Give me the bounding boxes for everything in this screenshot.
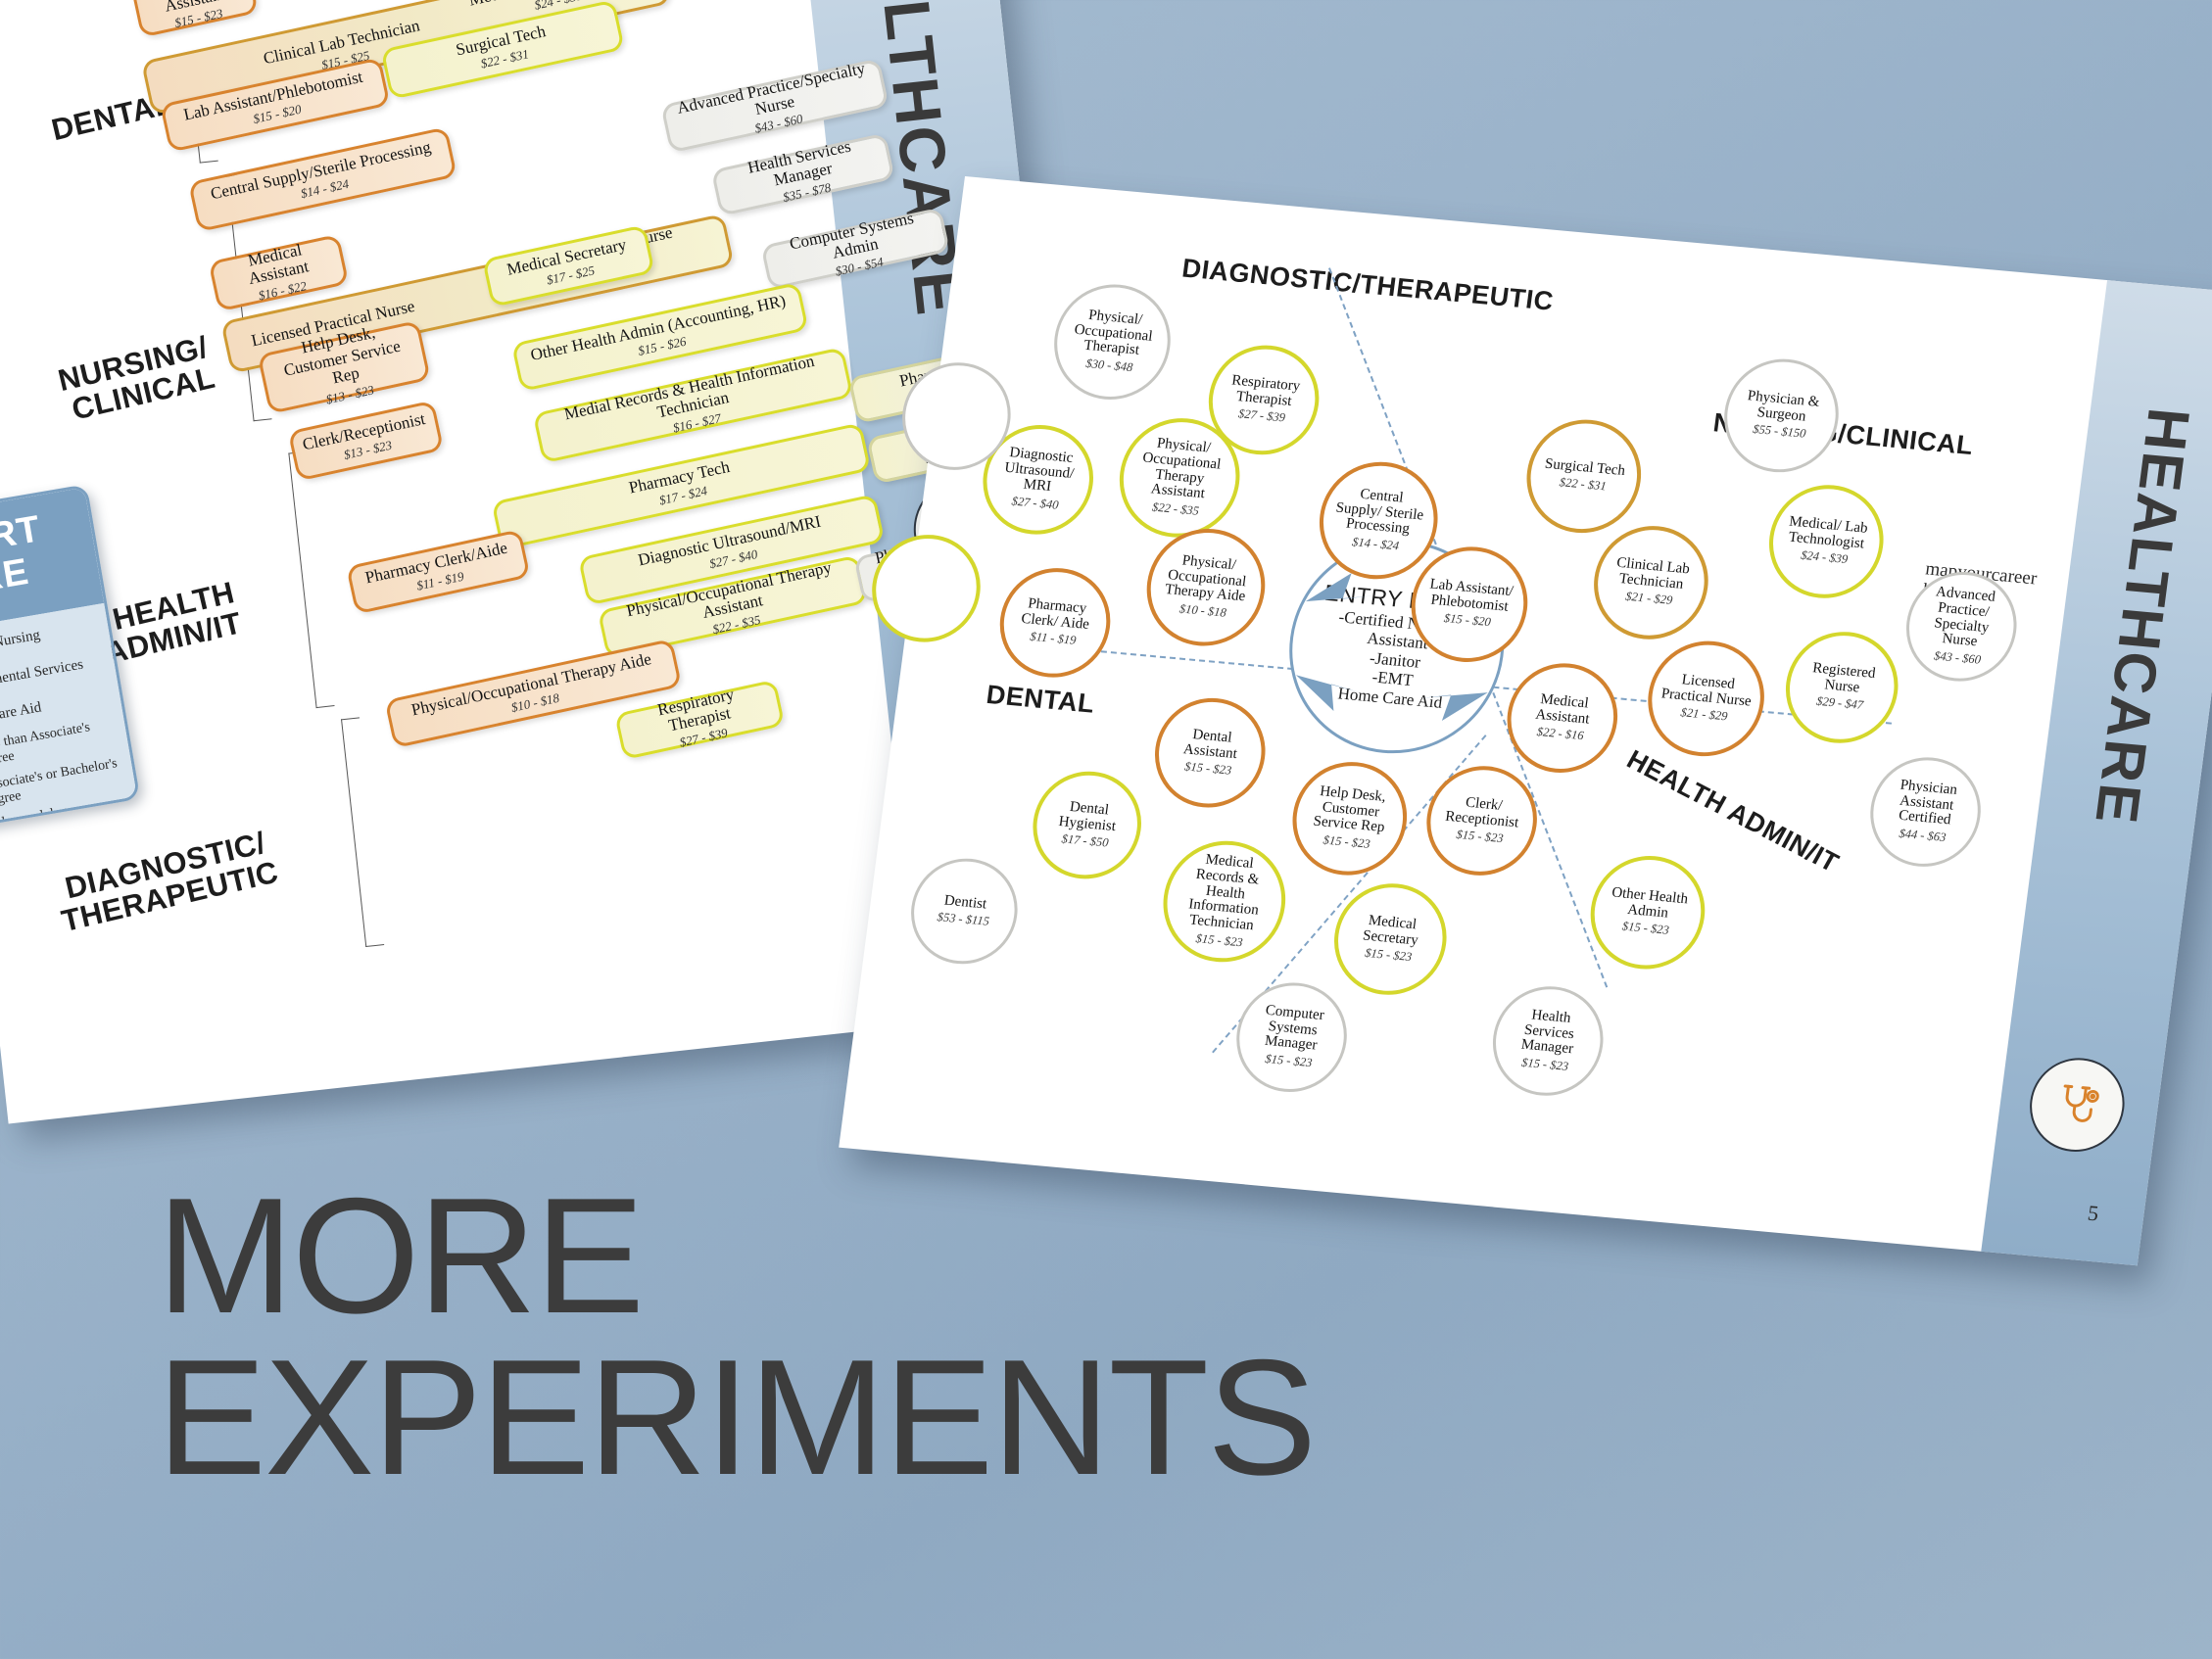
node-dental-assistant[interactable]: Dental Assistant$15 - $23 <box>1148 693 1272 812</box>
node-pt-ot-therapy-aide[interactable]: Physical/ Occupational Therapy Aide$10 -… <box>1139 524 1272 651</box>
spine-title: HEALTHCARE <box>2083 405 2203 820</box>
bar-pharmacy-clerk-aide[interactable]: Pharmacy Clerk/Aide$11 - $19 <box>346 529 530 614</box>
group-label-diagnostic: DIAGNOSTIC/THERAPEUTIC <box>52 828 276 937</box>
bar-central-supply-sterile[interactable]: Central Supply/Sterile Processing$14 - $… <box>188 126 457 232</box>
entry-level-job-list: - Certified Nursing Assistant - Environm… <box>0 617 110 734</box>
page-5-circle-map: HEALTHCARE 5 mapyourcareer healthcare DI… <box>839 176 2212 1265</box>
node-dental-hygienist[interactable]: Dental Hygienist$17 - $50 <box>1027 767 1148 883</box>
node-other-health-admin[interactable]: Other Health Admin$15 - $23 <box>1584 851 1712 974</box>
node-medical-records-hit[interactable]: Medical Records & Health Information Tec… <box>1156 835 1293 967</box>
headline-line-1: MORE <box>157 1175 1430 1337</box>
group-label-nursing: NURSING/CLINICAL <box>32 331 218 432</box>
page-title: MORE EXPERIMENTS <box>157 1175 1430 1497</box>
node-medical-lab-technologist[interactable]: Medical/ Lab Technologist$24 - $39 <box>1762 480 1891 603</box>
hub-item: Home Care Aid <box>1337 684 1444 712</box>
legend-label: Advanced degree <box>0 802 84 832</box>
page-5-spine: HEALTHCARE 5 <box>1981 280 2212 1265</box>
node-help-desk-customer-service-rep[interactable]: Help Desk, Customer Service Rep$15 - $23 <box>1286 757 1415 880</box>
bracket-diagnostic <box>341 717 384 947</box>
node-surgical-tech[interactable]: Surgical Tech$22 - $31 <box>1520 415 1649 539</box>
bar-dental-assistant[interactable]: Dental Assistant$15 - $23 <box>131 0 259 38</box>
node-physical-occupational-therapist[interactable]: Physical/ Occupational Therapist$30 - $4… <box>1047 279 1178 404</box>
bracket-health-admin <box>288 451 334 709</box>
node-computer-systems-manager[interactable]: Computer Systems Manager$15 - $23 <box>1230 978 1354 1097</box>
node-physician-assistant-certified[interactable]: Physician Assistant Certified$44 - $63 <box>1864 753 1988 872</box>
node-licensed-practical-nurse[interactable]: Licensed Practical Nurse$21 - $29 <box>1641 637 1771 762</box>
node-dentist[interactable]: Dentist$53 - $115 <box>905 854 1025 969</box>
node-clinical-lab-technician[interactable]: Clinical Lab Technician$21 - $29 <box>1587 521 1715 644</box>
quadrant-label-dental: DENTAL <box>985 680 1096 720</box>
node-registered-nurse[interactable]: Registered Nurse$29 - $47 <box>1779 627 1904 747</box>
node-physician-surgeon[interactable]: Physician & Surgeon$55 - $150 <box>1717 355 1846 478</box>
start-here-line-2: HERE <box>0 544 84 610</box>
node-health-services-manager[interactable]: Health Services Manager$15 - $23 <box>1486 981 1610 1100</box>
headline-line-2: EXPERIMENTS <box>157 1337 1430 1498</box>
quadrant-label-diagnostic-therapeutic: DIAGNOSTIC/THERAPEUTIC <box>1180 254 1556 317</box>
degree-legend: Less than Associate's degree Associate's… <box>0 717 128 832</box>
node-pharmacy-clerk-aide[interactable]: Pharmacy Clerk/ Aide$11 - $19 <box>993 563 1117 682</box>
stethoscope-icon <box>2024 1054 2130 1156</box>
bar-clerk-receptionist[interactable]: Clerk/Receptionist$13 - $23 <box>288 401 445 482</box>
page-number: 5 <box>2087 1201 2100 1227</box>
